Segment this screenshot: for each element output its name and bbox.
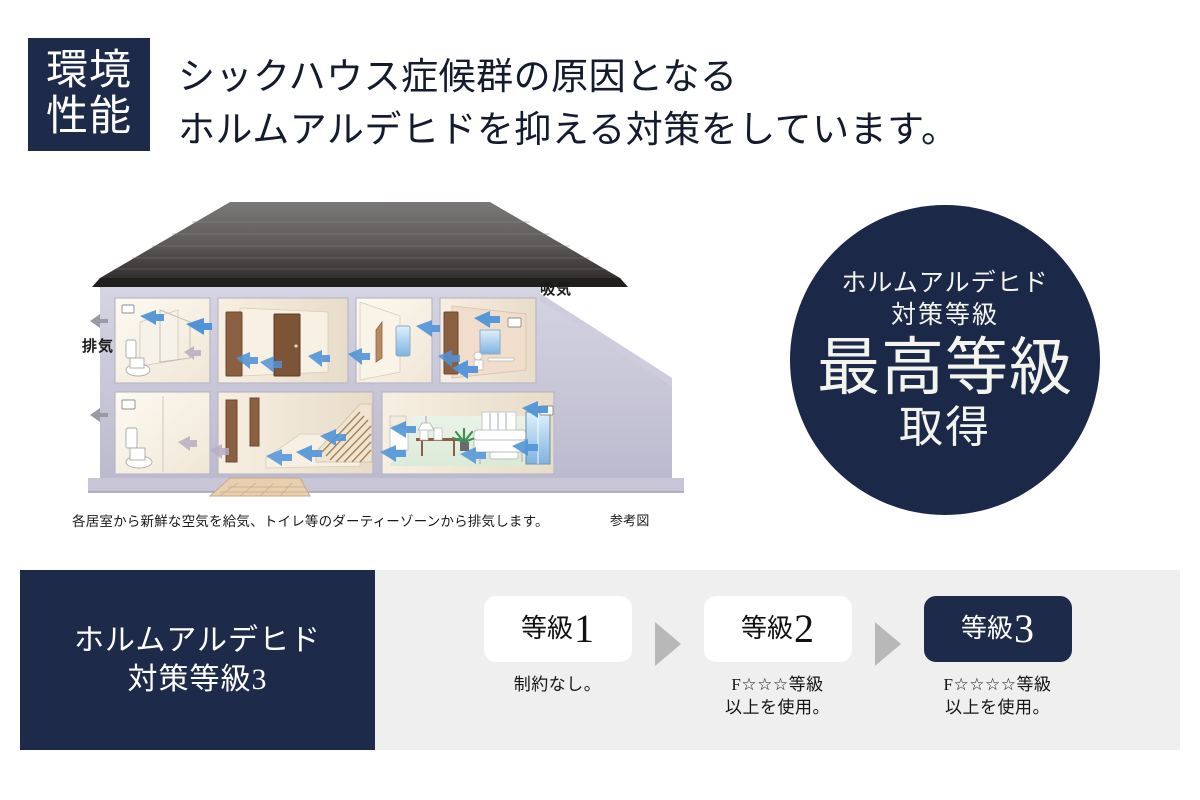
grade-chip-1-word: 等級 bbox=[521, 616, 573, 642]
seal-line-4: 取得 bbox=[899, 405, 991, 451]
lower-bath-room bbox=[115, 392, 210, 474]
upper-window bbox=[396, 326, 410, 356]
wall-shelf bbox=[482, 412, 516, 430]
headline-line-2: ホルムアルデヒドを抑える対策をしています。 bbox=[178, 105, 1078, 158]
headline: シックハウス症候群の原因となる ホルムアルデヒドを抑える対策をしています。 bbox=[178, 52, 1078, 157]
upper-exhaust-vent bbox=[122, 305, 134, 313]
illustration-reference-note: 参考図 bbox=[610, 510, 650, 529]
illustration-caption: 各居室から新鮮な空気を給気、トイレ等のダーティーゾーンから排気します。 bbox=[72, 510, 592, 530]
grade-arrow-2-to-3 bbox=[867, 622, 909, 666]
upper-door-left bbox=[226, 312, 242, 376]
grade-chip-2: 等級 2 bbox=[704, 596, 852, 662]
lower-exhaust-vent bbox=[122, 400, 135, 409]
roof bbox=[92, 202, 628, 287]
grade-arrow-1-to-2 bbox=[647, 622, 689, 666]
grade-chip-1-number: 1 bbox=[574, 609, 594, 649]
upper-bedroom-window bbox=[480, 330, 500, 354]
intake-label: 吸気 bbox=[540, 278, 572, 299]
grade-strip-title-line1: ホルムアルデヒド bbox=[74, 621, 321, 660]
grade-step-3-desc: F☆☆☆☆等級 以上を使用。 bbox=[944, 674, 1052, 720]
upper-intake-vent bbox=[508, 318, 521, 327]
seal-line-1: ホルムアルデヒド bbox=[841, 269, 1048, 299]
grade-steps: 等級 1 制約なし。 等級 2 F☆☆☆等級 以上を使用。 bbox=[375, 570, 1180, 750]
seal-line-2: 対策等級 bbox=[891, 301, 999, 331]
seal-line-3: 最高等級 bbox=[817, 336, 1073, 400]
grade-chip-3: 等級 3 bbox=[924, 596, 1072, 662]
ground-slab bbox=[88, 478, 684, 492]
entry-door-right bbox=[250, 398, 259, 446]
upper-hall bbox=[218, 298, 348, 383]
grade-strip-title: ホルムアルデヒド 対策等級3 bbox=[20, 570, 375, 750]
sliding-glass-door bbox=[526, 412, 550, 464]
headline-line-1: シックハウス症候群の原因となる bbox=[178, 52, 1078, 105]
upper-bath-room bbox=[115, 298, 210, 383]
grade-chip-1: 等級 1 bbox=[484, 596, 632, 662]
chevron-right-icon bbox=[875, 622, 901, 666]
grade-step-1: 等級 1 制約なし。 bbox=[469, 570, 647, 697]
grade-step-2-desc: F☆☆☆等級 以上を使用。 bbox=[725, 674, 830, 720]
grade-step-3-desc-line1: F☆☆☆☆等級 bbox=[944, 674, 1052, 697]
upper-bedroom bbox=[440, 298, 536, 383]
grade-chip-2-number: 2 bbox=[794, 609, 814, 649]
grade-chip-2-word: 等級 bbox=[741, 616, 793, 642]
chevron-right-icon bbox=[655, 622, 681, 666]
category-badge-line1: 環境 bbox=[46, 49, 132, 94]
grade-step-3-desc-line2: 以上を使用。 bbox=[944, 697, 1052, 720]
grade-step-1-desc: 制約なし。 bbox=[514, 674, 602, 697]
header-section: 環境 性能 シックハウス症候群の原因となる ホルムアルデヒドを抑える対策をしてい… bbox=[0, 0, 1200, 190]
grade-step-2-desc-line2: 以上を使用。 bbox=[725, 697, 830, 720]
grade-chip-3-number: 3 bbox=[1014, 609, 1034, 649]
upper-corridor bbox=[356, 298, 432, 383]
category-badge: 環境 性能 bbox=[28, 38, 150, 151]
grade-strip: ホルムアルデヒド 対策等級3 等級 1 制約なし。 等級 2 F☆☆☆等級 以上 bbox=[20, 570, 1180, 750]
grade-step-2-desc-line1: F☆☆☆等級 bbox=[725, 674, 830, 697]
grade-step-2: 等級 2 F☆☆☆等級 以上を使用。 bbox=[689, 570, 867, 720]
exhaust-label: 排気 bbox=[82, 335, 114, 356]
highest-grade-seal: ホルムアルデヒド 対策等級 最高等級 取得 bbox=[790, 205, 1100, 515]
grade-step-1-desc-line1: 制約なし。 bbox=[514, 674, 602, 697]
house-cutaway-svg bbox=[60, 190, 700, 505]
grade-strip-title-line2: 対策等級3 bbox=[128, 660, 268, 699]
category-badge-line2: 性能 bbox=[46, 95, 132, 140]
grade-step-3: 等級 3 F☆☆☆☆等級 以上を使用。 bbox=[909, 570, 1087, 720]
grade-chip-3-word: 等級 bbox=[961, 616, 1013, 642]
house-ventilation-illustration: 排気 吸気 各居室から新鮮な空気を給気、トイレ等のダーティーゾーンから排気します… bbox=[60, 190, 700, 545]
